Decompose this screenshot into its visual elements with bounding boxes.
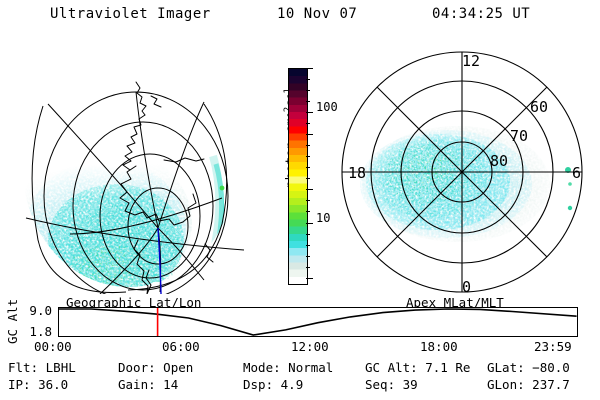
status-seq: Seq: 39 — [365, 377, 418, 392]
geographic-panel[interactable] — [8, 44, 254, 294]
magnetic-polar-plot: 12 18 6 0 60 70 80 — [334, 44, 590, 300]
status-mode: Mode: Normal — [243, 360, 333, 375]
colorbar-gradient — [289, 69, 307, 284]
status-dsp: Dsp: 4.9 — [243, 377, 303, 392]
observation-date: 10 Nov 07 — [277, 6, 357, 22]
altitude-xtick-0000: 00:00 — [34, 339, 72, 354]
status-door: Door: Open — [118, 360, 193, 375]
status-glon: GLon: 237.7 — [487, 377, 570, 392]
altitude-ytick-high: 9.0 — [18, 303, 52, 318]
aurora-emission-magnetic — [360, 126, 572, 242]
mlt-label-18: 18 — [348, 164, 366, 182]
mlat-ring-label-70: 70 — [510, 127, 528, 145]
altitude-plot-frame[interactable] — [58, 307, 578, 337]
altitude-trace-svg — [59, 308, 577, 336]
status-row-1: Flt: LBHL Door: Open Mode: Normal GC Alt… — [0, 360, 600, 378]
altitude-xtick-1800: 18:00 — [420, 339, 458, 354]
status-gc-alt: GC Alt: 7.1 Re — [365, 360, 470, 375]
status-gain: Gain: 14 — [118, 377, 178, 392]
mlt-label-12: 12 — [462, 52, 480, 70]
altitude-timeline[interactable]: GC Alt 9.0 1.8 00:00 06:00 12:00 18:00 2… — [0, 305, 600, 357]
polar-grid — [342, 52, 582, 292]
mlat-ring-label-80: 80 — [490, 152, 508, 170]
status-footer: Flt: LBHL Door: Open Mode: Normal GC Alt… — [0, 360, 600, 400]
mlt-label-6: 6 — [572, 164, 581, 182]
mlat-ring-label-60: 60 — [530, 98, 548, 116]
header-bar: Ultraviolet Imager 10 Nov 07 04:34:25 UT — [0, 6, 600, 30]
mlt-label-0: 0 — [462, 278, 471, 296]
observation-time: 04:34:25 UT — [432, 6, 530, 22]
colorbar-gradient-box — [288, 68, 308, 285]
status-glat: GLat: −80.0 — [487, 360, 570, 375]
status-flight: Flt: LBHL — [8, 360, 76, 375]
altitude-xtick-2359: 23:59 — [534, 339, 572, 354]
altitude-xtick-0600: 06:00 — [162, 339, 200, 354]
altitude-xtick-1200: 12:00 — [291, 339, 329, 354]
altitude-trace — [59, 309, 577, 335]
magnetic-panel[interactable]: 12 18 6 0 60 70 80 — [334, 44, 590, 300]
colorbar[interactable]: photon cm-2s-1 100 10 — [258, 62, 330, 292]
status-ip: IP: 36.0 — [8, 377, 68, 392]
instrument-title: Ultraviolet Imager — [50, 6, 211, 22]
colorbar-tick-label-low: 10 — [316, 211, 330, 225]
status-row-2: IP: 36.0 Gain: 14 Dsp: 4.9 Seq: 39 GLon:… — [0, 377, 600, 395]
geographic-plot — [8, 44, 254, 294]
altitude-ytick-low: 1.8 — [18, 324, 52, 339]
